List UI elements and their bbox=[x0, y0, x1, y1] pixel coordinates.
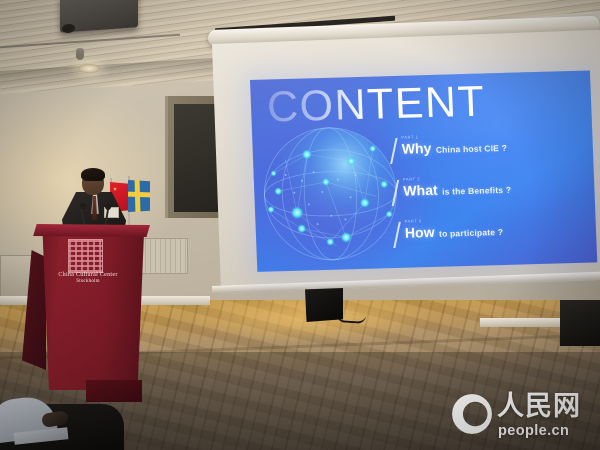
photo-scene: CONTENT PART 1 Why China host CIE ? PART… bbox=[0, 0, 600, 450]
ceiling-spotlight bbox=[78, 64, 100, 73]
watermark: 人民网 people.cn bbox=[452, 392, 590, 442]
podium-base-shadow bbox=[86, 380, 142, 402]
slide-agenda-list: PART 1 Why China host CIE ? PART 2 What … bbox=[392, 128, 597, 259]
flag-sweden-cross-horizontal bbox=[128, 192, 150, 197]
slide-agenda-item: PART 3 How to participate ? bbox=[395, 212, 597, 260]
podium-desktop bbox=[32, 224, 150, 237]
slide-item-kicker: PART 2 bbox=[403, 176, 420, 181]
slide-item-text: to participate ? bbox=[439, 227, 503, 239]
podium-nameplate: China Cultural Center Stockholm bbox=[46, 272, 130, 284]
speaker-glasses-icon bbox=[84, 180, 103, 185]
network-globe-icon bbox=[254, 118, 410, 272]
people-cn-logo-icon bbox=[452, 394, 492, 434]
podium-line-1: China Cultural Center bbox=[46, 272, 130, 278]
slide-item-keyword: Why bbox=[401, 140, 431, 157]
watermark-english-text: people.cn bbox=[498, 423, 569, 439]
slide-item-text: China host CIE ? bbox=[436, 143, 508, 155]
slide-title: CONTENT bbox=[266, 77, 486, 132]
slide-agenda-item: PART 1 Why China host CIE ? bbox=[392, 128, 594, 176]
projected-slide: CONTENT PART 1 Why China host CIE ? PART… bbox=[250, 71, 597, 272]
slide-item-keyword: How bbox=[405, 224, 435, 241]
china-cultural-center-seal-icon bbox=[68, 239, 103, 273]
podium-line-2: Stockholm bbox=[46, 279, 130, 284]
slide-item-kicker: PART 3 bbox=[404, 218, 421, 223]
microphone-head-icon bbox=[105, 204, 111, 210]
slide-item-keyword: What bbox=[403, 182, 438, 199]
track-lamp bbox=[76, 48, 84, 60]
radiator bbox=[140, 238, 188, 274]
door-glass bbox=[174, 104, 218, 212]
floor-equipment-box bbox=[560, 300, 600, 346]
watermark-chinese-text: 人民网 bbox=[497, 393, 581, 420]
slide-item-text: is the Benefits ? bbox=[442, 185, 511, 197]
microphone-head-icon bbox=[80, 203, 86, 209]
slide-item-kicker: PART 1 bbox=[401, 134, 418, 139]
slide-agenda-item: PART 2 What is the Benefits ? bbox=[394, 170, 596, 218]
